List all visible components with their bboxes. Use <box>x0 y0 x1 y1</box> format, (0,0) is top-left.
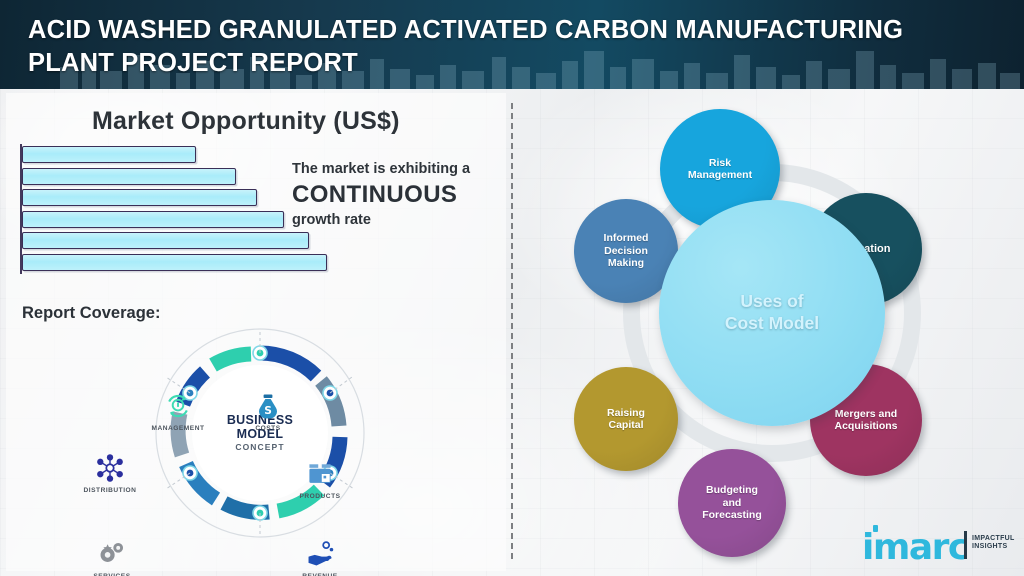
uses-node-label: Informed Decision Making <box>598 232 655 269</box>
coverage-item[interactable]: SERVICES <box>74 537 150 576</box>
uses-node-label: Risk Management <box>682 157 758 182</box>
coverage-item[interactable]: PRODUCTS <box>282 457 358 500</box>
product-box-icon <box>282 457 358 491</box>
logo-tagline-1: IMPACTFUL <box>972 535 1015 543</box>
chart-bar <box>22 232 309 249</box>
coverage-item[interactable]: DISTRIBUTION <box>72 451 148 494</box>
slide-header: ACID WASHED GRANULATED ACTIVATED CARBON … <box>0 0 1024 89</box>
imarc-logo[interactable]: imarc IMPACTFUL INSIGHTS <box>862 524 1014 568</box>
logo-separator <box>964 531 967 559</box>
svg-text:S: S <box>264 405 272 417</box>
uses-node[interactable]: Budgeting and Forecasting <box>678 449 786 557</box>
center-line-1: Uses of <box>725 291 819 313</box>
chart-bar <box>22 211 284 228</box>
hand-coins-icon <box>282 537 358 571</box>
callout-line-3: growth rate <box>292 212 504 228</box>
coverage-item-label: MANAGEMENT <box>140 425 216 432</box>
network-nodes-icon <box>72 451 148 485</box>
market-opportunity-title: Market Opportunity (US$) <box>92 107 400 136</box>
chart-bar <box>22 189 257 206</box>
center-line-2: Cost Model <box>725 313 819 335</box>
coverage-item[interactable]: MANAGEMENT <box>140 389 216 432</box>
coverage-item-label: COSTS <box>230 425 306 432</box>
coverage-item-label: PRODUCTS <box>282 493 358 500</box>
uses-node-label: Raising Capital <box>601 407 651 432</box>
logo-tagline-2: INSIGHTS <box>972 543 1015 551</box>
business-model-wheel: BUSINESS MODEL CONCEPT <box>110 297 410 569</box>
coverage-item-label: DISTRIBUTION <box>72 487 148 494</box>
callout-line-1: The market is exhibiting a <box>292 161 504 177</box>
chart-bar <box>22 254 327 271</box>
coverage-item[interactable]: REVENUE <box>282 537 358 576</box>
center-node-label: Uses of Cost Model <box>725 291 819 335</box>
slide-root: ACID WASHED GRANULATED ACTIVATED CARBON … <box>0 0 1024 576</box>
chart-bar <box>22 168 236 185</box>
uses-node-label: Budgeting and Forecasting <box>696 484 768 521</box>
gears-icon <box>74 537 150 571</box>
logo-wordmark: imarc <box>862 530 968 566</box>
logo-tagline: IMPACTFUL INSIGHTS <box>972 535 1015 551</box>
uses-node[interactable]: Raising Capital <box>574 367 678 471</box>
uses-node-label: Mergers and Acquisitions <box>828 408 903 433</box>
coverage-item[interactable]: SCOSTS <box>230 389 306 432</box>
growth-callout: The market is exhibiting a CONTINUOUS gr… <box>292 161 504 228</box>
business-model-ring-icon <box>110 297 410 569</box>
chart-bar <box>22 146 196 163</box>
page-title: ACID WASHED GRANULATED ACTIVATED CARBON … <box>28 14 988 80</box>
recycle-lightbulb-icon <box>140 389 216 423</box>
callout-line-2: CONTINUOUS <box>292 181 504 209</box>
center-node: Uses of Cost Model <box>659 200 885 426</box>
money-bag-icon: S <box>230 389 306 423</box>
panel-divider <box>511 103 513 559</box>
slide-body: Market Opportunity (US$) The market is e… <box>0 89 1024 576</box>
right-panel: Risk ManagementValuationMergers and Acqu… <box>512 89 1024 576</box>
